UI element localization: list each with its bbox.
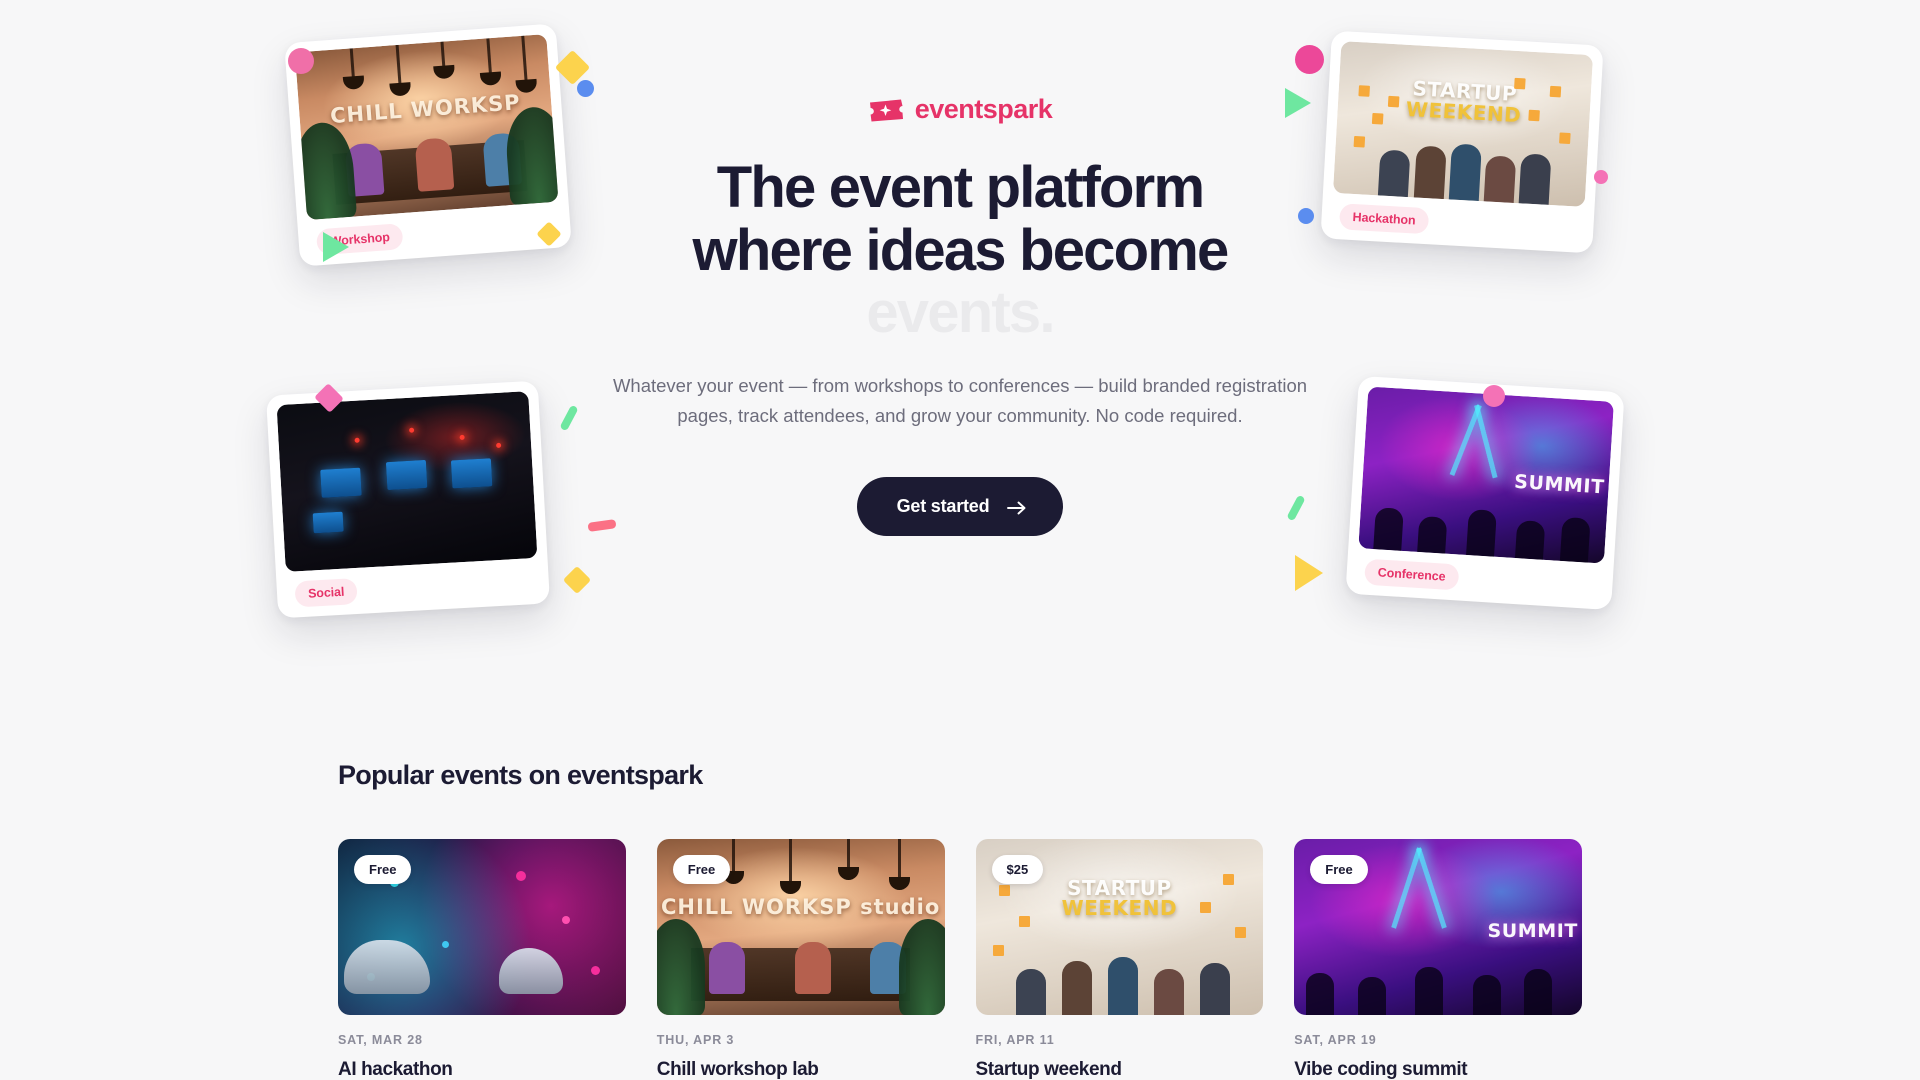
decor-triangle-green [323,232,349,262]
decor-diamond-yellow-3 [563,566,591,594]
ticket-sparkle-icon [868,97,904,123]
headline-line-3-faded: events. [580,282,1340,345]
section-title: Popular events on eventspark [338,760,1582,791]
arrow-right-icon [1007,499,1027,513]
badge-conference: Conference [1364,559,1459,591]
floating-card-workshop[interactable]: CHILL WORKSP Workshop [284,23,572,266]
event-photo-caption: SUMMIT [1487,920,1578,942]
get-started-button[interactable]: Get started [857,477,1064,536]
badge-social: Social [294,578,358,607]
price-badge: Free [354,855,411,884]
brand-name: eventspark [915,96,1053,123]
event-title: Chill workshop lab [657,1058,945,1080]
card-photo-workshop: CHILL WORKSP [295,34,559,220]
card-photo-conference: SUMMIT [1358,386,1614,563]
card-photo-social [277,391,538,572]
event-photo-caption: CHILL WORKSP studio [657,895,945,919]
event-card[interactable]: $25 STARTUP WEEKEND FRI, APR 11 Startup … [976,839,1264,1080]
headline-line-2: where ideas become [580,220,1340,283]
price-badge: $25 [992,855,1044,884]
event-thumbnail[interactable]: Free CHILL WORKSP studio [657,839,945,1015]
hero-subtitle: Whatever your event — from workshops to … [580,371,1340,431]
decor-circle-blue [577,80,594,97]
event-thumbnail[interactable]: Free SUMMIT [1294,839,1582,1015]
page-title: The event platform where ideas become ev… [580,157,1340,345]
price-badge: Free [1310,855,1367,884]
decor-circle-pink-2 [1483,385,1505,407]
decor-triangle-yellow [1295,555,1323,591]
event-title: Startup weekend [976,1058,1264,1080]
event-date: FRI, APR 11 [976,1033,1264,1047]
decor-dash-green [559,405,578,432]
event-date: SAT, MAR 28 [338,1033,626,1047]
event-card[interactable]: Free SAT, MAR 28 AI hackathon [338,839,626,1080]
floating-card-social[interactable]: Social [266,381,550,619]
hero-content: eventspark The event platform where idea… [580,96,1340,536]
price-badge: Free [673,855,730,884]
hero-cta-wrapper: Get started [580,477,1340,536]
event-thumbnail[interactable]: $25 STARTUP WEEKEND [976,839,1264,1015]
headline-line-1: The event platform [580,157,1340,220]
decor-circle-pink [288,48,314,74]
event-date: SAT, APR 19 [1294,1033,1582,1047]
event-card[interactable]: Free CHILL WORKSP studio THU, APR 3 Chil… [657,839,945,1080]
events-grid: Free SAT, MAR 28 AI hackathon Free CHIL [338,839,1582,1080]
popular-events-section: Popular events on eventspark Free SAT, M… [0,760,1920,1080]
floating-card-conference[interactable]: SUMMIT Conference [1345,376,1624,610]
brand-logo[interactable]: eventspark [580,96,1340,123]
hero-section: CHILL WORKSP Workshop STARTUP WEEKEND [0,0,1920,720]
decor-circle-magenta [1295,45,1324,74]
badge-hackathon: Hackathon [1339,203,1429,234]
get-started-label: Get started [897,496,990,517]
card-photo-caption: SUMMIT [1514,470,1606,498]
floating-card-hackathon[interactable]: STARTUP WEEKEND Hackathon [1320,31,1603,254]
event-thumbnail[interactable]: Free [338,839,626,1015]
decor-circle-pink-3 [1594,170,1608,184]
event-title: Vibe coding summit [1294,1058,1582,1080]
event-card[interactable]: Free SUMMIT SAT, APR 19 Vibe coding summ… [1294,839,1582,1080]
card-photo-hackathon: STARTUP WEEKEND [1333,41,1593,207]
event-date: THU, APR 3 [657,1033,945,1047]
event-title: AI hackathon [338,1058,626,1080]
